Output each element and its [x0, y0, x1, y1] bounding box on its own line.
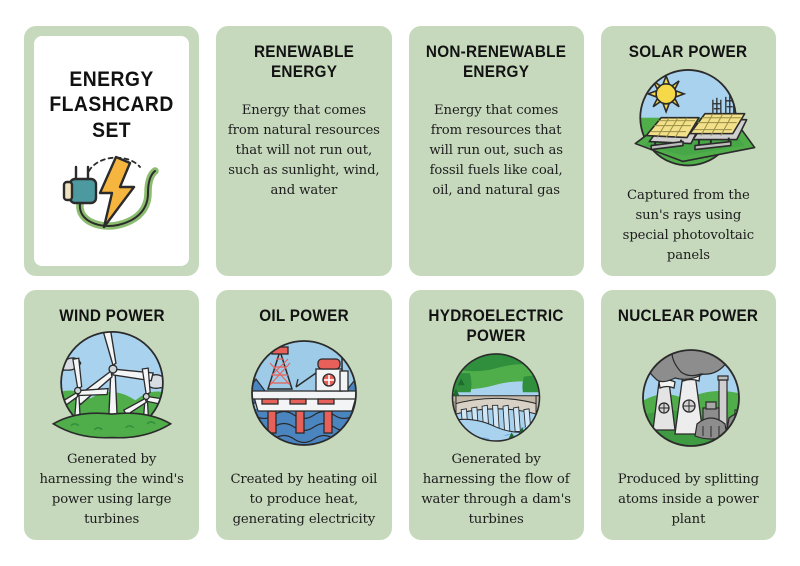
flashcard-hydroelectric-power[interactable]: HYDROELECTRIC POWER: [409, 290, 584, 540]
flashcard-renewable-energy[interactable]: RENEWABLE ENERGY Energy that comes from …: [216, 26, 391, 276]
cover-title-line-3: SET: [49, 118, 173, 144]
card-body: Created by heating oil to produce heat, …: [223, 470, 384, 530]
card-illustration: [31, 326, 192, 445]
card-illustration: [608, 62, 769, 181]
card-illustration: [608, 326, 769, 465]
flashcard-cover[interactable]: ENERGY FLASHCARD SET: [24, 26, 199, 276]
card-title: HYDROELECTRIC POWER: [418, 306, 575, 347]
flashcard-solar-power[interactable]: SOLAR POWER: [601, 26, 776, 276]
cover-panel: ENERGY FLASHCARD SET: [34, 36, 189, 266]
card-illustration: [416, 347, 577, 448]
card-body: Generated by harnessing the wind's power…: [31, 450, 192, 530]
flashcard-grid: ENERGY FLASHCARD SET: [24, 26, 776, 540]
cover-title: ENERGY FLASHCARD SET: [49, 67, 173, 144]
card-title: OIL POWER: [226, 306, 383, 326]
card-title: NON-RENEWABLE ENERGY: [418, 42, 575, 83]
flashcard-non-renewable-energy[interactable]: NON-RENEWABLE ENERGY Energy that comes f…: [409, 26, 584, 276]
flashcard-wind-power[interactable]: WIND POWER: [24, 290, 199, 540]
card-title: SOLAR POWER: [610, 42, 767, 62]
card-title: NUCLEAR POWER: [610, 306, 767, 326]
card-body: Energy that comes from natural resources…: [223, 101, 384, 201]
flashcard-oil-power[interactable]: OIL POWER: [216, 290, 391, 540]
cover-title-line-2: FLASHCARD: [49, 92, 173, 118]
nuclear-cooling-towers-icon: [615, 334, 761, 458]
card-body: Generated by harnessing the flow of wate…: [416, 450, 577, 530]
solar-panels-icon: [613, 62, 763, 181]
plug-lightning-bolt-icon: [56, 149, 168, 235]
wind-turbines-icon: [42, 326, 182, 445]
card-title: RENEWABLE ENERGY: [226, 42, 383, 83]
card-body: Captured from the sun's rays using speci…: [608, 186, 769, 266]
card-body: Energy that comes from resources that wi…: [416, 101, 577, 201]
flashcard-nuclear-power[interactable]: NUCLEAR POWER: [601, 290, 776, 540]
cover-title-line-1: ENERGY: [49, 67, 173, 93]
card-illustration: [223, 326, 384, 465]
cover-illustration: [40, 149, 183, 235]
hydro-dam-icon: [428, 347, 564, 448]
oil-rig-icon: [234, 335, 374, 457]
card-title: WIND POWER: [33, 306, 190, 326]
card-body: Produced by splitting atoms inside a pow…: [608, 470, 769, 530]
flashcard-sheet: ENERGY FLASHCARD SET: [0, 0, 800, 566]
